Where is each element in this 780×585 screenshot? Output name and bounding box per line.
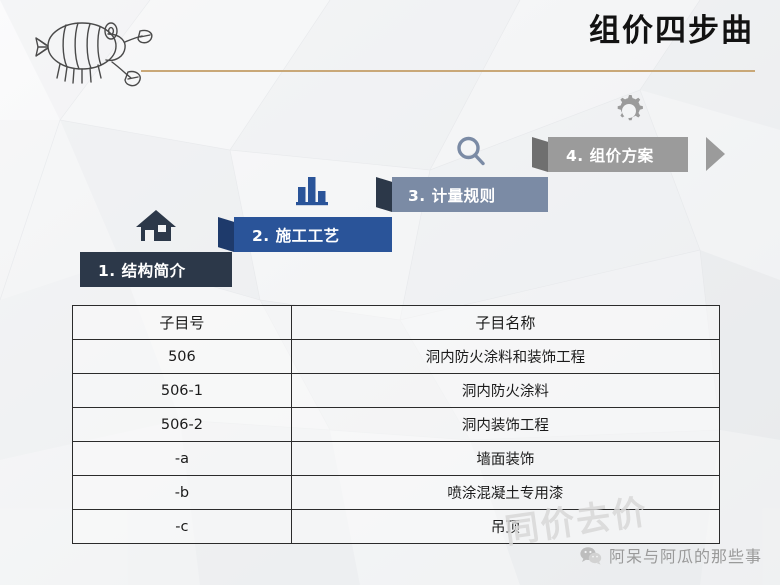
brand-credit: 阿呆与阿瓜的那些事 — [580, 543, 762, 567]
step-4-label: 4. 组价方案 — [566, 144, 654, 166]
cell-name: 洞内防火涂料和装饰工程 — [291, 340, 719, 374]
cell-code: -a — [73, 442, 292, 476]
step-3-body[interactable]: 3. 计量规则 — [392, 177, 548, 212]
cell-code: 506-2 — [73, 408, 292, 442]
cell-code: 506-1 — [73, 374, 292, 408]
step-2-label: 2. 施工工艺 — [252, 224, 340, 246]
cell-name: 洞内防火涂料 — [291, 374, 719, 408]
step-4[interactable]: 4. 组价方案 — [548, 137, 688, 172]
table-row: 506-2 洞内装饰工程 — [73, 408, 720, 442]
step-3[interactable]: 3. 计量规则 — [392, 177, 548, 212]
step-1-body[interactable]: 1. 结构简介 — [80, 252, 232, 287]
slide-header: 组价四步曲 — [0, 0, 780, 86]
search-icon — [452, 132, 490, 170]
step-1[interactable]: 1. 结构简介 — [80, 252, 232, 287]
step-3-fold — [376, 177, 392, 212]
cell-name: 墙面装饰 — [291, 442, 719, 476]
bar-chart-icon — [293, 170, 331, 210]
table-row: 506-1 洞内防火涂料 — [73, 374, 720, 408]
step-4-body[interactable]: 4. 组价方案 — [548, 137, 688, 172]
gear-icon — [610, 92, 648, 130]
step-1-label: 1. 结构简介 — [98, 259, 186, 281]
col-header-name: 子目名称 — [291, 306, 719, 340]
step-3-label: 3. 计量规则 — [408, 184, 496, 206]
col-header-code: 子目号 — [73, 306, 292, 340]
house-icon — [135, 205, 177, 247]
step-2-fold — [218, 217, 234, 252]
steps-diagram: 4. 组价方案 3. 计量规则 2. 施工 — [0, 86, 780, 286]
cell-code: -b — [73, 476, 292, 510]
step-2-body[interactable]: 2. 施工工艺 — [234, 217, 392, 252]
brand-name: 阿呆与阿瓜的那些事 — [609, 543, 762, 567]
wechat-icon — [580, 546, 602, 565]
table-row: 506 洞内防火涂料和装饰工程 — [73, 340, 720, 374]
title-divider — [141, 70, 755, 72]
page-title: 组价四步曲 — [589, 16, 754, 47]
table-header-row: 子目号 子目名称 — [73, 306, 720, 340]
step-4-arrow-tip — [706, 137, 725, 171]
slide-footer: 同价去价 阿呆与阿瓜的那些事 — [0, 537, 780, 577]
crayfish-icon — [26, 6, 154, 94]
step-2[interactable]: 2. 施工工艺 — [234, 217, 392, 252]
cell-name: 洞内装饰工程 — [291, 408, 719, 442]
cell-code: 506 — [73, 340, 292, 374]
step-4-fold — [532, 137, 548, 172]
table-row: -a 墙面装饰 — [73, 442, 720, 476]
slide-canvas: 组价四步曲 4. 组价方案 3. 计量规则 — [0, 0, 780, 585]
